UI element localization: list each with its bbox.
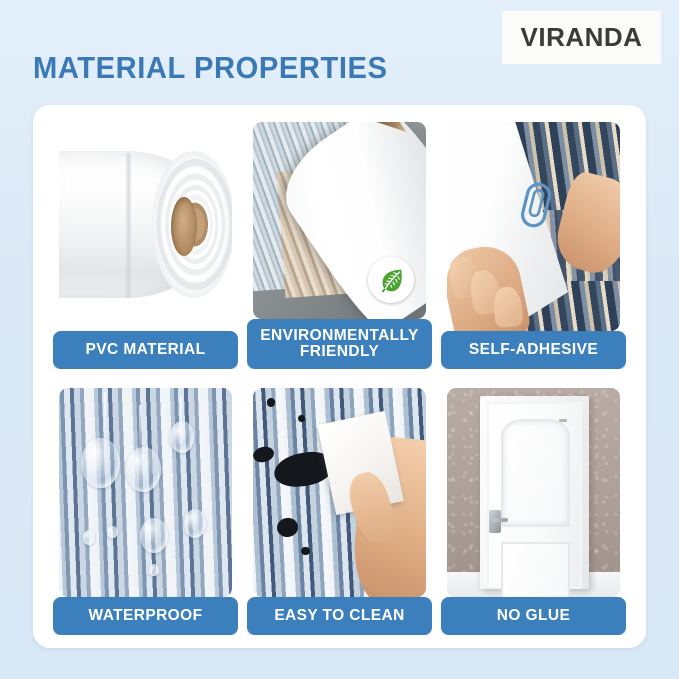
feature-label-no-glue: NO GLUE <box>441 597 626 635</box>
paperclip-icon <box>509 178 563 232</box>
feature-label-self-adhesive: SELF-ADHESIVE <box>441 331 626 369</box>
water-drop-5 <box>184 509 206 538</box>
feature-label-environmentally-friendly: ENVIRONMENTALLY FRIENDLY <box>247 319 432 369</box>
eco-sheet-illustration <box>253 122 426 319</box>
door-panel-lower <box>501 542 570 597</box>
stain-2 <box>298 415 305 422</box>
water-drop-3 <box>170 421 194 452</box>
water-drop-1 <box>81 438 119 488</box>
waterproof-illustration <box>59 388 232 597</box>
product-feature-infographic: VIRANDA MATERIAL PROPERTIES PVC MATERIAL <box>0 0 679 679</box>
pvc-roll-illustration <box>59 122 232 331</box>
feature-image-self-adhesive <box>447 122 620 331</box>
feature-image-environmentally-friendly <box>253 122 426 319</box>
feature-image-easy-to-clean <box>253 388 426 597</box>
stain-6 <box>301 547 310 555</box>
self-adhesive-illustration <box>447 122 620 331</box>
stain-4 <box>253 444 275 463</box>
features-panel: PVC MATERIAL <box>33 105 646 648</box>
rolled-sheet-tip <box>376 122 406 143</box>
feature-card-no-glue[interactable]: NO GLUE <box>441 384 626 635</box>
feature-label-pvc-material: PVC MATERIAL <box>53 331 238 369</box>
feature-label-easy-to-clean: EASY TO CLEAN <box>247 597 432 635</box>
water-drop-2 <box>126 447 161 493</box>
feature-image-pvc-material <box>59 122 232 331</box>
door-handle-lever <box>493 518 508 523</box>
feature-card-easy-to-clean[interactable]: EASY TO CLEAN <box>247 384 432 635</box>
door-panel-upper <box>501 419 570 527</box>
drop-streak-2 <box>139 405 141 447</box>
door-frame <box>480 396 589 588</box>
feature-card-environmentally-friendly[interactable]: ENVIRONMENTALLY FRIENDLY <box>247 118 432 369</box>
feature-label-waterproof: WATERPROOF <box>53 597 238 635</box>
door-slab <box>487 402 582 589</box>
page-title: MATERIAL PROPERTIES <box>33 50 387 86</box>
feature-card-self-adhesive[interactable]: SELF-ADHESIVE <box>441 118 626 369</box>
door-illustration <box>447 388 620 597</box>
stain-5 <box>276 516 300 538</box>
brand-logo-box: VIRANDA <box>502 11 661 64</box>
water-drop-7 <box>107 526 117 539</box>
feature-image-no-glue <box>447 388 620 597</box>
water-drop-4 <box>140 518 168 554</box>
features-grid: PVC MATERIAL <box>53 118 626 635</box>
stain-1 <box>267 398 276 406</box>
water-drop-8 <box>149 564 159 577</box>
feature-card-waterproof[interactable]: WATERPROOF <box>53 384 238 635</box>
feature-card-pvc-material[interactable]: PVC MATERIAL <box>53 118 238 369</box>
leaf-icon <box>368 257 414 303</box>
feature-image-waterproof <box>59 388 232 597</box>
roll-edge <box>125 153 132 297</box>
water-drop-6 <box>83 530 95 545</box>
easy-to-clean-illustration <box>253 388 426 597</box>
brand-name: VIRANDA <box>521 22 643 53</box>
